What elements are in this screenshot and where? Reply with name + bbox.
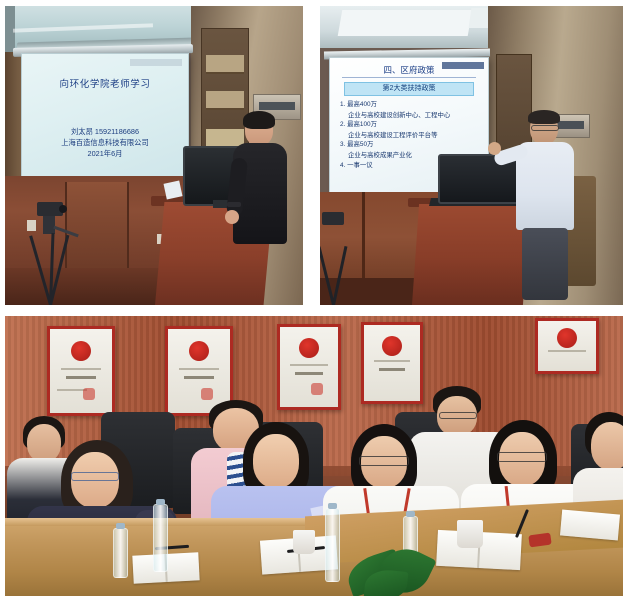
slide-title-rule xyxy=(342,77,476,78)
attendee-head xyxy=(591,422,623,470)
ceiling-panel xyxy=(338,10,473,36)
certificate-seal-icon xyxy=(557,328,577,348)
framed-certificate xyxy=(277,324,341,410)
cabinet-shelf xyxy=(206,55,244,74)
photo-collage: 向环化学院老师学习 刘太昂 15921186686 上海百造信息科技有限公司 2… xyxy=(0,0,628,596)
bullet-text: 最高50万 xyxy=(347,141,373,148)
projector-screen: 向环化学院老师学习 刘太昂 15921186686 上海百造信息科技有限公司 2… xyxy=(22,54,188,176)
bullet-number: 1. xyxy=(340,101,345,108)
water-bottle xyxy=(153,504,168,572)
bullet-text: 一事一议 xyxy=(347,162,373,169)
presenter-hand xyxy=(488,142,501,155)
paper-sheet xyxy=(164,181,183,200)
slide-corner-tag xyxy=(130,59,182,66)
slide-body: 刘太昂 15921186686 上海百造信息科技有限公司 2021年6月 xyxy=(22,126,188,159)
certificate-seal-icon xyxy=(189,341,209,361)
attendee-head xyxy=(253,434,299,488)
podium xyxy=(412,204,530,305)
certificate-text-line xyxy=(374,360,410,362)
certificate-text-line xyxy=(548,350,585,352)
slide-title: 四、区府政策 xyxy=(330,64,488,76)
cabinet-shelf xyxy=(206,91,244,110)
certificate-stamp-icon xyxy=(311,383,323,395)
bullet-number: 4. xyxy=(340,162,345,169)
certificate-stamp-icon xyxy=(83,388,95,400)
tripod-leg xyxy=(332,246,347,305)
paper-cup xyxy=(457,520,483,548)
notebook xyxy=(560,510,620,541)
slide-line-2: 上海百造信息科技有限公司 xyxy=(22,137,188,148)
slide-bullet-item: 2. 最高100万 xyxy=(340,120,482,130)
water-bottle xyxy=(325,508,340,582)
bullet-text: 最高400万 xyxy=(347,101,377,108)
collage-margin-right xyxy=(623,0,628,596)
slide-bullet-sub: 企业与高校建设工程评价平台等 xyxy=(340,131,482,141)
bullet-text: 最高100万 xyxy=(347,121,377,128)
glasses-icon xyxy=(497,452,547,462)
presenter-hair xyxy=(528,110,560,124)
certificate-text-line xyxy=(66,376,96,379)
photo-presenter-title-slide[interactable]: 向环化学院老师学习 刘太昂 15921186686 上海百造信息科技有限公司 2… xyxy=(5,6,303,305)
bottle-cap xyxy=(328,503,337,509)
slide-bullet-sub: 企业与高校建设创新中心、工程中心 xyxy=(340,111,482,121)
glasses-icon xyxy=(531,125,559,131)
glasses-icon xyxy=(359,456,409,466)
bullet-number: 3. xyxy=(340,141,345,148)
certificate-text-line xyxy=(379,368,406,371)
certificate-text-line xyxy=(290,364,327,366)
certificate-text-line xyxy=(61,368,101,370)
presenter-person xyxy=(231,114,289,244)
slide-subtitle: 第2大类扶持政策 xyxy=(344,82,474,96)
collage-gutter-horizontal xyxy=(0,305,628,316)
camera-lens-icon xyxy=(59,205,67,213)
certificate-text-line xyxy=(184,376,214,379)
wristwatch xyxy=(227,202,241,207)
certificate-text-line xyxy=(179,368,219,370)
photo-presenter-policy-slide[interactable]: 四、区府政策 第2大类扶持政策 1. 最高400万 企业与高校建设创新中心、工程… xyxy=(320,6,623,305)
green-plant xyxy=(347,544,443,596)
paper-cup xyxy=(293,530,315,554)
glasses-icon xyxy=(439,412,477,419)
slide-bullet-item: 1. 最高400万 xyxy=(340,100,482,110)
bottle-cap xyxy=(156,499,165,505)
collage-margin-left xyxy=(0,0,5,596)
tripod-camera xyxy=(320,212,356,305)
certificate-seal-icon xyxy=(299,338,319,358)
collage-gutter-vertical xyxy=(303,0,320,312)
framed-certificate xyxy=(361,322,423,404)
framed-certificate xyxy=(535,318,599,374)
certificate-seal-icon xyxy=(71,341,91,361)
certificate-seal-icon xyxy=(382,336,402,356)
tripod-camera xyxy=(23,202,79,305)
slide-title: 向环化学院老师学习 xyxy=(22,76,188,90)
collage-margin-top xyxy=(0,0,628,6)
slide-line-3: 2021年6月 xyxy=(22,148,188,159)
photo-audience-conference-room[interactable] xyxy=(5,316,623,596)
slide-bullet-item: 3. 最高50万 xyxy=(340,140,482,150)
bottle-cap xyxy=(116,523,125,529)
presenter-trousers xyxy=(522,228,568,300)
presenter-person xyxy=(516,112,578,300)
certificate-text-line xyxy=(295,372,323,375)
slide-line-1: 刘太昂 15921186686 xyxy=(22,126,188,137)
water-bottle xyxy=(113,528,128,578)
certificate-stamp-icon xyxy=(201,388,213,400)
presenter-hand xyxy=(225,210,239,224)
presenter-hair xyxy=(243,111,275,129)
framed-certificate xyxy=(47,326,115,416)
video-camera-icon xyxy=(322,212,344,225)
bullet-number: 2. xyxy=(340,121,345,128)
glasses-icon xyxy=(71,472,119,481)
bottle-cap xyxy=(406,511,415,517)
